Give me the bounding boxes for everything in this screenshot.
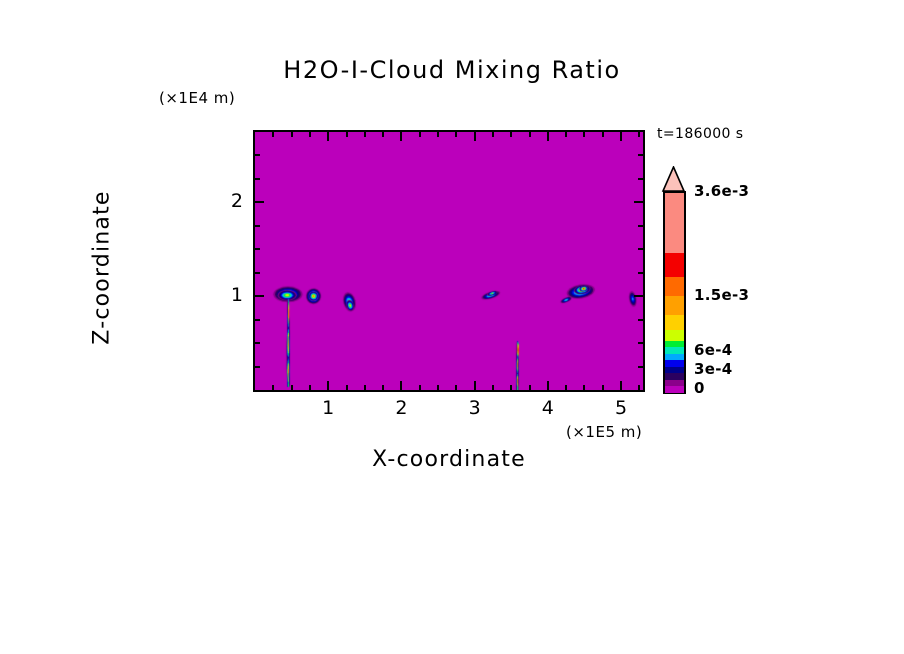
x-minor-tick: [529, 385, 531, 390]
x-minor-tick: [419, 385, 421, 390]
y-minor-tick: [638, 248, 643, 250]
y-minor-tick: [255, 225, 260, 227]
x-minor-tick: [364, 132, 366, 137]
y-minor-tick: [638, 272, 643, 274]
colorbar-extend-arrow: [661, 166, 686, 192]
y-minor-tick: [255, 178, 260, 180]
x-minor-tick: [437, 385, 439, 390]
x-minor-tick: [272, 132, 274, 137]
x-tick-label: 3: [455, 397, 495, 419]
x-minor-tick: [382, 385, 384, 390]
y-minor-tick: [255, 248, 260, 250]
y-tick-label: 2: [203, 190, 243, 212]
x-minor-tick: [510, 385, 512, 390]
colorbar-band: [665, 379, 684, 386]
x-major-tick: [620, 381, 622, 390]
colorbar-band: [665, 252, 684, 277]
colorbar[interactable]: [663, 191, 686, 394]
x-minor-tick: [583, 132, 585, 137]
x-minor-tick: [602, 132, 604, 137]
x-major-tick: [327, 381, 329, 390]
plot-area[interactable]: [253, 130, 645, 392]
colorbar-band: [665, 353, 684, 360]
x-major-tick: [620, 132, 622, 141]
x-major-tick: [547, 381, 549, 390]
colorbar-band: [665, 193, 684, 253]
x-minor-tick: [638, 132, 640, 137]
colorbar-band: [665, 373, 684, 380]
x-minor-tick: [455, 385, 457, 390]
y-minor-tick: [638, 366, 643, 368]
colorbar-band: [665, 314, 684, 330]
x-major-tick: [327, 132, 329, 141]
y-axis-unit-label: (×1E4 m): [159, 89, 235, 107]
x-minor-tick: [565, 385, 567, 390]
colorbar-band: [665, 330, 684, 341]
x-minor-tick: [638, 385, 640, 390]
contour-field: [255, 132, 643, 390]
colorbar-band: [665, 276, 684, 296]
colorbar-tick-label: 3e-4: [694, 360, 732, 378]
x-minor-tick: [565, 132, 567, 137]
y-major-tick: [634, 201, 643, 203]
x-minor-tick: [455, 132, 457, 137]
colorbar-tick-label: 1.5e-3: [694, 286, 749, 304]
x-minor-tick: [364, 385, 366, 390]
y-minor-tick: [255, 366, 260, 368]
x-major-tick: [400, 381, 402, 390]
colorbar-band: [665, 386, 684, 393]
x-minor-tick: [510, 132, 512, 137]
x-minor-tick: [382, 132, 384, 137]
y-axis-title: Z-coordinate: [90, 138, 115, 398]
y-major-tick: [634, 295, 643, 297]
x-tick-label: 4: [528, 397, 568, 419]
colorbar-tick-label: 0: [694, 379, 705, 397]
x-tick-label: 5: [601, 397, 641, 419]
y-tick-label: 1: [203, 284, 243, 306]
x-minor-tick: [291, 385, 293, 390]
x-minor-tick: [309, 385, 311, 390]
x-minor-tick: [309, 132, 311, 137]
colorbar-band: [665, 296, 684, 315]
x-minor-tick: [346, 385, 348, 390]
colorbar-band: [665, 347, 684, 354]
x-tick-label: 1: [308, 397, 348, 419]
y-minor-tick: [638, 154, 643, 156]
x-major-tick: [547, 132, 549, 141]
page-title: H2O-I-Cloud Mixing Ratio: [0, 56, 904, 84]
x-minor-tick: [492, 132, 494, 137]
colorbar-band: [665, 360, 684, 367]
colorbar-tick-label: 6e-4: [694, 341, 732, 359]
x-minor-tick: [437, 132, 439, 137]
x-minor-tick: [346, 132, 348, 137]
x-major-tick: [474, 381, 476, 390]
x-minor-tick: [291, 132, 293, 137]
colorbar-band: [665, 366, 684, 373]
y-major-tick: [255, 201, 264, 203]
colorbar-band: [665, 340, 684, 347]
time-annotation: t=186000 s: [657, 126, 743, 142]
y-major-tick: [255, 295, 264, 297]
x-major-tick: [400, 132, 402, 141]
x-axis-unit-label: (×1E5 m): [566, 423, 642, 441]
x-minor-tick: [492, 385, 494, 390]
y-minor-tick: [255, 319, 260, 321]
x-minor-tick: [529, 132, 531, 137]
x-minor-tick: [272, 385, 274, 390]
colorbar-tick-label: 3.6e-3: [694, 182, 749, 200]
x-major-tick: [474, 132, 476, 141]
y-minor-tick: [638, 342, 643, 344]
y-minor-tick: [255, 272, 260, 274]
x-tick-label: 2: [381, 397, 421, 419]
x-axis-title: X-coordinate: [253, 447, 645, 472]
x-minor-tick: [602, 385, 604, 390]
y-minor-tick: [255, 154, 260, 156]
y-minor-tick: [638, 225, 643, 227]
y-minor-tick: [638, 178, 643, 180]
y-minor-tick: [255, 342, 260, 344]
y-minor-tick: [638, 319, 643, 321]
x-minor-tick: [583, 385, 585, 390]
x-minor-tick: [419, 132, 421, 137]
